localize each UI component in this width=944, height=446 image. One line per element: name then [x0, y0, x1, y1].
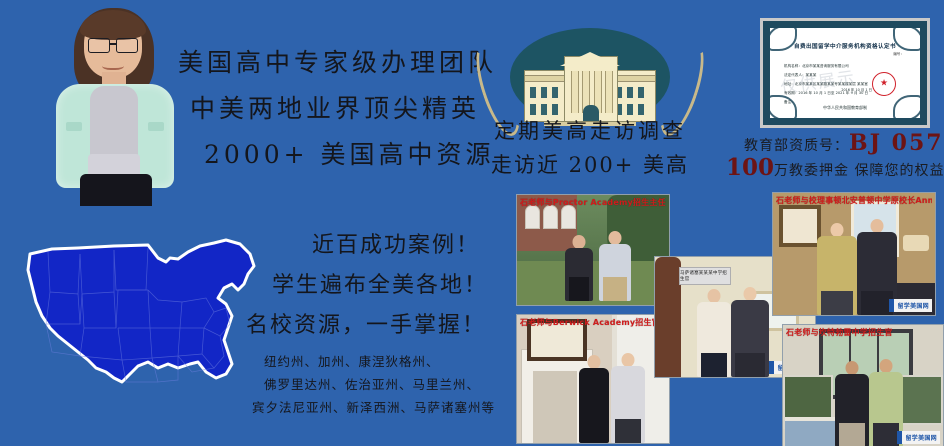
- photo-kent-admission[interactable]: 石老师与坎特勃雷中学招生官 留学美国网: [782, 324, 944, 446]
- photo-caption: 石老师与坎特勃雷中学招生官: [786, 327, 940, 338]
- pediment: [560, 52, 620, 66]
- state-list-block: 纽约州、加州、康涅狄格州、 佛罗里达州、佐治亚州、马里兰州、 宾夕法尼亚州、新泽…: [252, 350, 520, 419]
- poster-canvas: 美国高中专家级办理团队 中美两地业界顶尖精英 2000+ 美国高中资源: [0, 0, 944, 446]
- table-lamp: [903, 235, 929, 269]
- emblem-caption-line-1: 定期美高走访调查: [474, 114, 706, 148]
- cardigan-pocket-right: [148, 122, 164, 131]
- headline-line-2: 中美两地业界顶尖精英: [178, 86, 478, 132]
- certificate-title: 自费出国留学中介服务机构资格认定书: [770, 42, 920, 50]
- lawn: [517, 261, 669, 305]
- person-left: [817, 223, 857, 315]
- framed-artwork: [779, 205, 821, 247]
- qualification-label: 教育部资质号：: [744, 138, 849, 154]
- photo-caption: 石老师与Proctor Academy招生主任Christopher: [520, 197, 666, 208]
- wooden-door: [655, 257, 681, 377]
- consultant-portrait: [50, 4, 180, 204]
- state-line-3: 宾夕法尼亚州、新泽西洲、马萨诸塞州等: [252, 396, 520, 419]
- qualification-certificate: 自费出国留学中介服务机构资格认定书 编号： 机构名称：北京市某某咨询服务有限公司…: [760, 18, 930, 128]
- building-icon: [524, 56, 656, 122]
- headline-line-1: 美国高中专家级办理团队: [178, 40, 478, 86]
- slogan-line-2: 学生遍布全美各地！: [246, 266, 514, 306]
- official-seal-icon: ★: [872, 72, 896, 96]
- slogan-line-3: 名校资源，一手掌握！: [246, 306, 514, 346]
- photo-caption: 石老师与校理事顿北安普顿中学原校长Ann: [776, 195, 932, 206]
- hearth: [533, 371, 577, 443]
- photo-campus-visit[interactable]: 石老师与Proctor Academy招生主任Christopher: [516, 194, 670, 306]
- photo-berwick-academy[interactable]: 石老师与Berwick Academy招生官: [516, 314, 670, 444]
- deposit-text: 万教委押金 保障您的权益！: [774, 163, 944, 179]
- dorm-bed: [785, 417, 839, 446]
- qualification-value: BJ 057: [849, 130, 944, 156]
- certificate-number-label: 编号：: [893, 52, 904, 57]
- slogan-line-1: 近百成功案例！: [246, 226, 514, 266]
- qualification-number-line: 教育部资质号：BJ 057: [744, 130, 942, 156]
- person-left: [565, 235, 593, 301]
- deposit-line: 100万教委押金 保障您的权益！: [726, 154, 942, 181]
- certificate-footer: 中华人民共和国教育部制: [770, 105, 920, 111]
- person-right: [731, 287, 769, 377]
- state-line-2: 佛罗里达州、佐治亚州、马里兰州、: [252, 373, 520, 396]
- person-left: [579, 355, 609, 443]
- photo-caption: 石老师与Berwick Academy招生官: [520, 317, 666, 328]
- emblem-caption-line-2: 走访近 200+ 美高: [474, 148, 706, 182]
- person-left: [835, 361, 869, 446]
- person-left: [697, 289, 731, 377]
- state-line-1: 纽约州、加州、康涅狄格州、: [252, 350, 520, 373]
- certificate-seal-date: 2016 年 10 月 1 日: [841, 87, 872, 92]
- headline-block: 美国高中专家级办理团队 中美两地业界顶尖精英 2000+ 美国高中资源: [178, 40, 478, 178]
- cardigan-pocket-left: [66, 122, 82, 131]
- slogan-block: 近百成功案例！ 学生遍布全美各地！ 名校资源，一手掌握！: [246, 226, 514, 346]
- photo-northampton-head[interactable]: 石老师与校理事顿北安普顿中学原校长Ann 留学美国网: [772, 192, 936, 316]
- trousers: [80, 174, 152, 206]
- deposit-amount: 100: [726, 154, 774, 181]
- person-right: [599, 231, 631, 301]
- door-plaque: 马萨诸塞某某某中学招生官: [679, 267, 731, 285]
- headline-line-3: 2000+ 美国高中资源: [178, 132, 478, 178]
- site-watermark: 留学美国网: [889, 299, 932, 312]
- emblem-caption: 定期美高走访调查 走访近 200+ 美高: [474, 114, 706, 182]
- glasses-icon: [88, 38, 138, 51]
- person-right: [611, 353, 645, 443]
- site-watermark: 留学美国网: [897, 431, 940, 444]
- mouth: [102, 60, 124, 70]
- united-states-map: [18, 232, 266, 422]
